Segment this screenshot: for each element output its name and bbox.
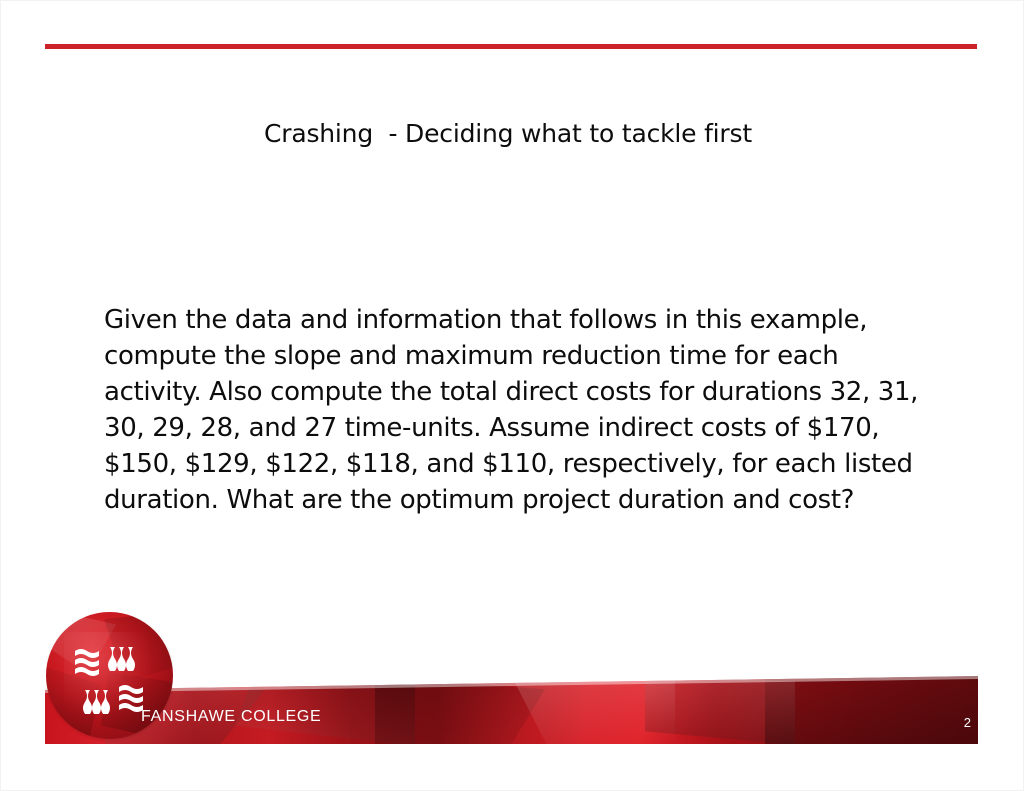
slide: Crashing - Deciding what to tackle first… xyxy=(0,0,1024,791)
logo-label: Fanshawe College logo xyxy=(46,612,47,613)
page-number: 2 xyxy=(955,715,971,730)
organization-name: FANSHAWE COLLEGE xyxy=(141,708,321,726)
body-paragraph: Given the data and information that foll… xyxy=(104,302,934,518)
fanshawe-knot-icon xyxy=(72,644,146,718)
header-rule xyxy=(45,44,977,49)
page-title: Crashing - Deciding what to tackle first xyxy=(264,118,752,150)
